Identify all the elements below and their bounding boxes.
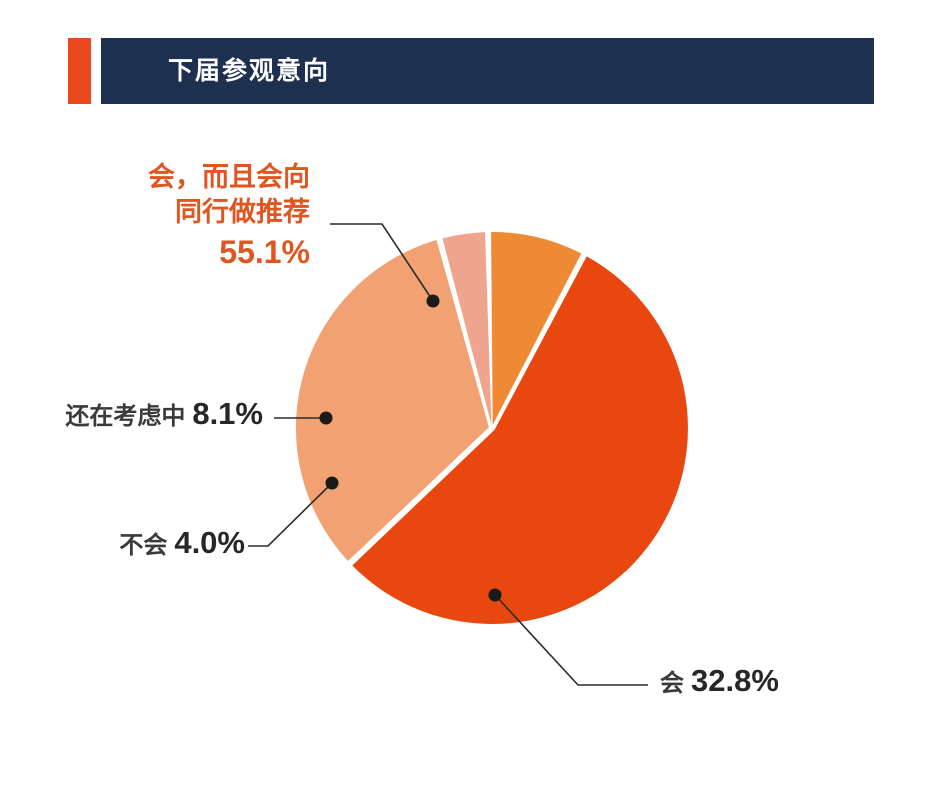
pie-label-yes-value: 32.8% [691,663,779,698]
pie-label-no-value: 4.0% [174,525,245,560]
pie-label-yes: 会32.8% [660,663,779,699]
pie-chart: 会，而且会向 同行做推荐 55.1% 还在考虑中8.1% 不会4.0% 会32.… [0,0,928,787]
pie-label-considering-name: 还在考虑中 [65,403,185,430]
pie-label-no: 不会4.0% [40,525,245,561]
pie-label-yes-name: 会 [660,670,684,697]
pie-label-recommend-value: 55.1% [60,232,310,274]
pie-chart-svg [0,0,928,787]
pie-label-recommend: 会，而且会向 同行做推荐 55.1% [60,160,310,274]
pie-label-no-name: 不会 [119,532,167,559]
pie-label-considering-value: 8.1% [192,396,263,431]
pie-label-considering: 还在考虑中8.1% [8,396,263,432]
pie-label-recommend-line1: 会，而且会向 [60,160,310,195]
pie-label-recommend-line2: 同行做推荐 [60,195,310,230]
